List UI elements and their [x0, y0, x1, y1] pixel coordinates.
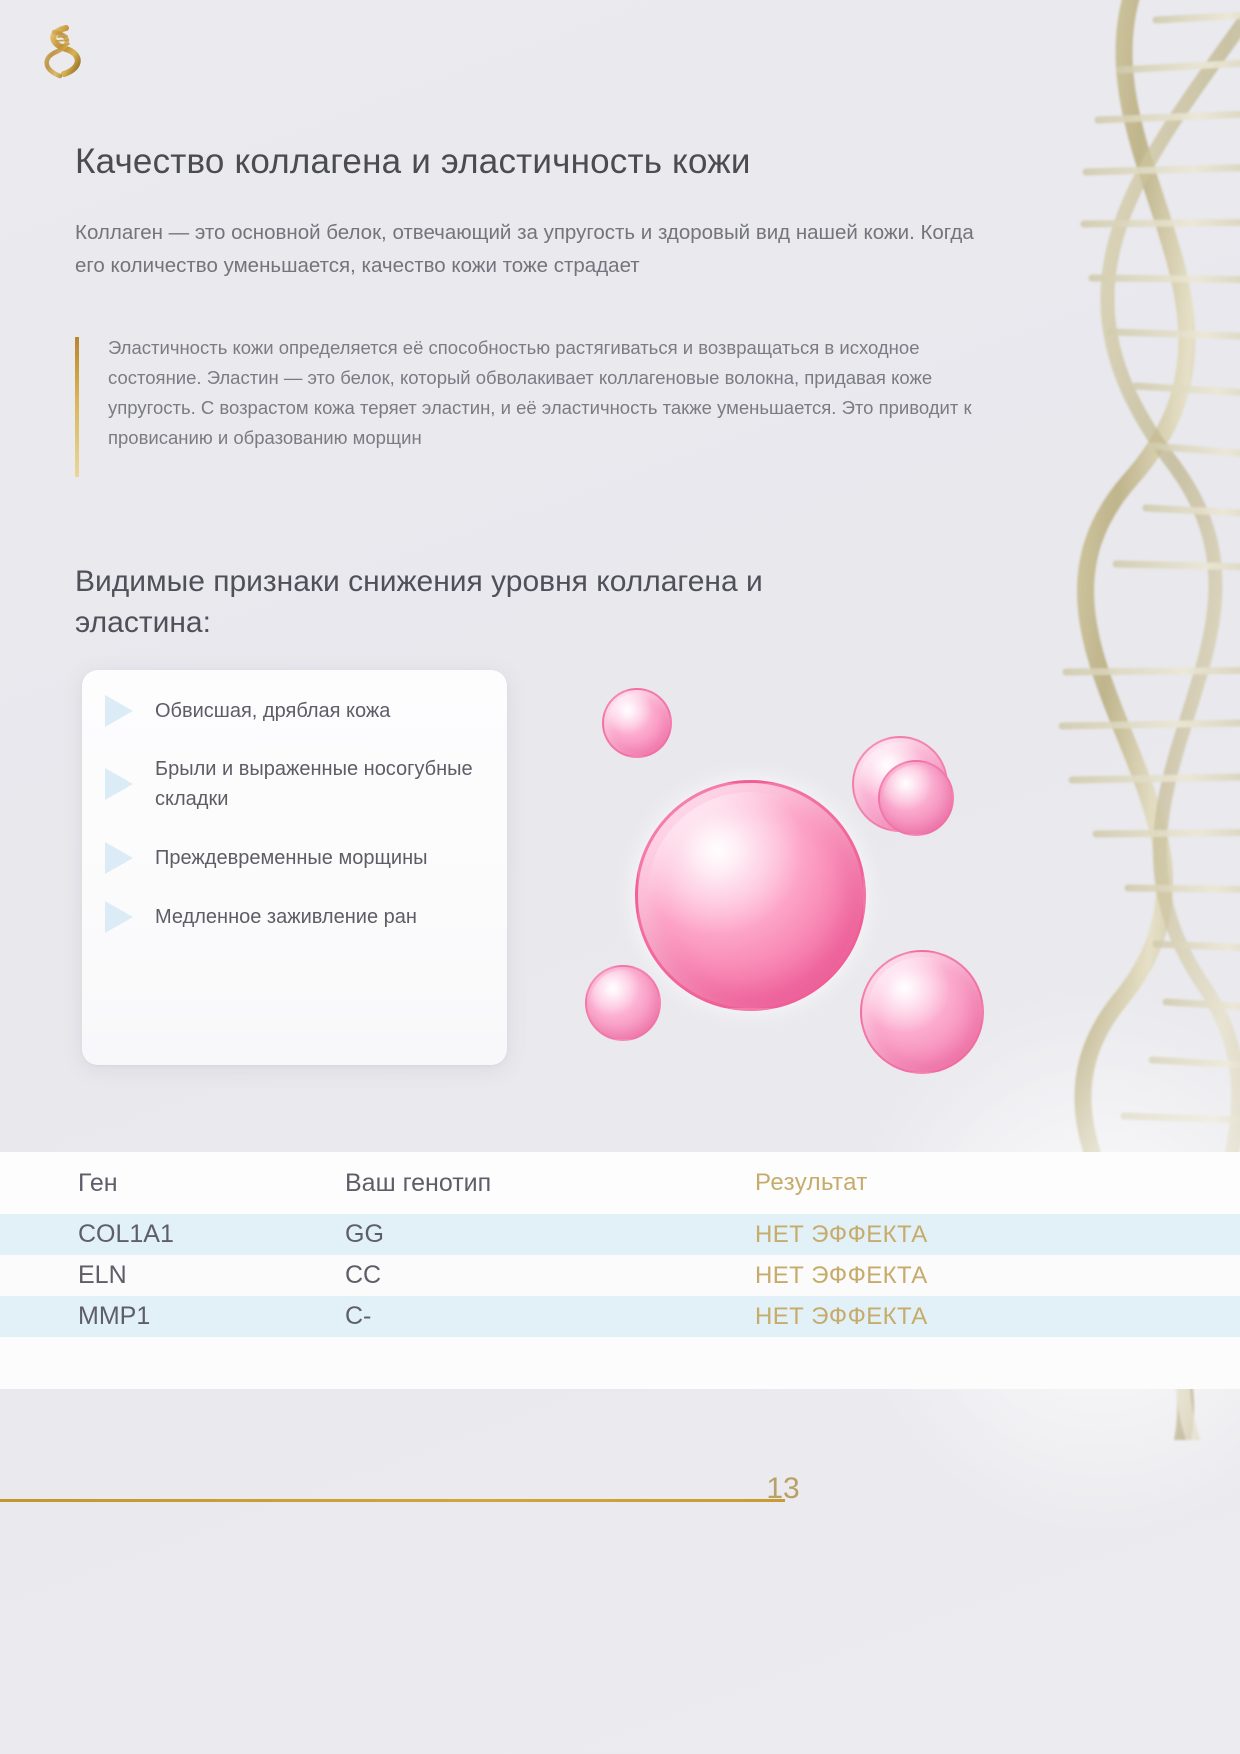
- cell-gene: MMP1: [0, 1302, 345, 1331]
- intro-paragraph: Коллаген — это основной белок, отвечающи…: [75, 216, 975, 282]
- page-title: Качество коллагена и эластичность кожи: [75, 141, 975, 184]
- list-item: Обвисшая, дряблая кожа: [105, 695, 505, 727]
- list-item-label: Обвисшая, дряблая кожа: [155, 696, 390, 726]
- section-subtitle: Видимые признаки снижения уровня коллаге…: [75, 561, 875, 644]
- cell-gene: ELN: [0, 1261, 345, 1290]
- collagen-bubbles-illustration: [540, 660, 1100, 1100]
- table-header-genotype: Ваш генотип: [345, 1169, 755, 1198]
- triangle-right-icon: [105, 768, 133, 800]
- triangle-right-icon: [105, 695, 133, 727]
- triangle-right-icon: [105, 901, 133, 933]
- table-bottom-spacer: [0, 1337, 1240, 1389]
- bubble-lower-left: [585, 965, 661, 1041]
- dna-helix-icon: [36, 22, 88, 84]
- list-item-label: Медленное заживление ран: [155, 902, 417, 932]
- cell-genotype: CC: [345, 1261, 755, 1290]
- list-item-label: Брыли и выраженные носогубные складки: [155, 754, 505, 815]
- bubble-lower-right: [860, 950, 984, 1074]
- table-row: ELN CC НЕТ ЭФФЕКТА: [0, 1255, 1240, 1296]
- table-header-row: Ген Ваш генотип Результат: [0, 1152, 1240, 1214]
- bubble-right-outer: [852, 736, 948, 832]
- cell-genotype: GG: [345, 1220, 755, 1249]
- table-header-gene: Ген: [0, 1169, 345, 1198]
- genotype-table: Ген Ваш генотип Результат COL1A1 GG НЕТ …: [0, 1152, 1240, 1389]
- cell-result: НЕТ ЭФФЕКТА: [755, 1303, 1240, 1331]
- triangle-right-icon: [105, 842, 133, 874]
- cell-result: НЕТ ЭФФЕКТА: [755, 1221, 1240, 1249]
- table-row: COL1A1 GG НЕТ ЭФФЕКТА: [0, 1214, 1240, 1255]
- list-item: Брыли и выраженные носогубные складки: [105, 754, 505, 815]
- list-item: Преждевременные морщины: [105, 842, 505, 874]
- report-page: Качество коллагена и эластичность кожи К…: [0, 0, 1240, 1754]
- gold-accent-bar: [75, 337, 79, 477]
- bubble-small-top: [602, 688, 672, 758]
- cell-genotype: C-: [345, 1302, 755, 1331]
- footer-rule: [0, 1499, 785, 1502]
- callout-text: Эластичность кожи определяется её способ…: [108, 337, 972, 448]
- callout-block: Эластичность кожи определяется её способ…: [75, 333, 1008, 453]
- list-item: Медленное заживление ран: [105, 901, 505, 933]
- table-header-result: Результат: [755, 1169, 1240, 1197]
- cell-gene: COL1A1: [0, 1220, 345, 1249]
- list-item-label: Преждевременные морщины: [155, 843, 428, 873]
- bubble-right-inner: [878, 760, 954, 836]
- page-number: 13: [738, 1472, 828, 1506]
- signs-list: Обвисшая, дряблая кожа Брыли и выраженны…: [105, 695, 505, 933]
- cell-result: НЕТ ЭФФЕКТА: [755, 1262, 1240, 1290]
- table-row: MMP1 C- НЕТ ЭФФЕКТА: [0, 1296, 1240, 1337]
- bubble-main: [635, 780, 866, 1011]
